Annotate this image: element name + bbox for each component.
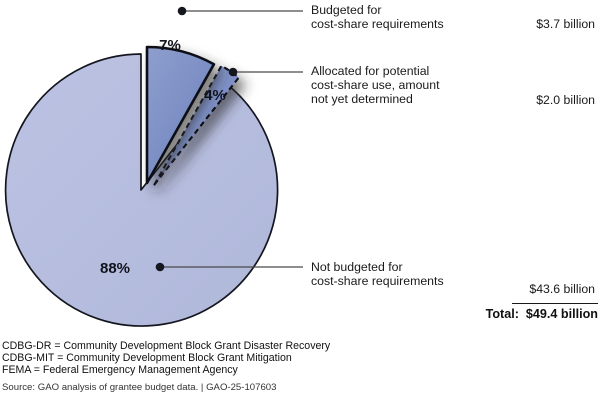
total-value: $49.4 billion (526, 307, 598, 321)
data-label-budgeted: 7% (159, 37, 181, 54)
pie-slice-not-budgeted (6, 54, 278, 326)
pie-chart-figure: 7% 4% 88% Budgeted for cost-share requir… (0, 0, 602, 401)
callout-amount-not-budgeted: $43.6 billion (475, 282, 595, 296)
callout-amount-allocated: $2.0 billion (475, 93, 595, 107)
total-row: Total:$49.4 billion (395, 307, 598, 321)
callout-label-budgeted: Budgeted for cost-share requirements (311, 3, 444, 31)
data-label-not-budgeted: 88% (100, 260, 130, 277)
total-label: Total: (486, 307, 519, 321)
total-divider (512, 303, 598, 304)
leader-line-budgeted (178, 7, 303, 16)
source-line: Source: GAO analysis of grantee budget d… (2, 382, 276, 393)
leader-line-allocated (229, 68, 303, 77)
callout-label-allocated: Allocated for potential cost-share use, … (311, 64, 440, 107)
callout-amount-budgeted: $3.7 billion (475, 17, 595, 31)
data-label-allocated: 4% (204, 87, 226, 104)
callout-label-not-budgeted: Not budgeted for cost-share requirements (311, 260, 444, 288)
abbreviation-footnotes: CDBG-DR = Community Development Block Gr… (2, 341, 330, 377)
